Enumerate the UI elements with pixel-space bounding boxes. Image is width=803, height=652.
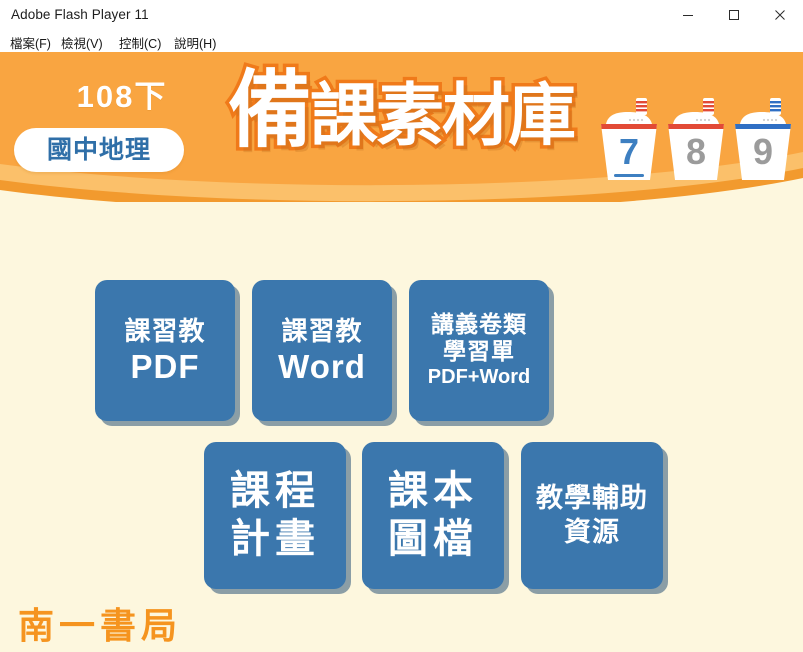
window-title: Adobe Flash Player 11 [11, 7, 149, 22]
menu-button-line3: PDF+Word [428, 367, 530, 389]
menu-button-textbook-images[interactable]: 課本 圖檔 [362, 442, 504, 589]
app-title-first: 備 [228, 63, 310, 157]
subject-badge: 國中地理 [14, 128, 184, 172]
grade-number-9: 9 [734, 134, 792, 170]
close-button[interactable] [757, 0, 803, 30]
maximize-icon [728, 9, 740, 21]
subject-label: 國中地理 [47, 138, 151, 163]
maximize-button[interactable] [711, 0, 757, 30]
menu-file[interactable]: 檔案(F) [10, 33, 51, 52]
app-title-rest: 課素材庫 [310, 78, 574, 154]
menu-button-line2: Word [278, 349, 366, 385]
minimize-button[interactable] [665, 0, 711, 30]
menu-button-lesson-pdf[interactable]: 課習教 PDF [95, 280, 235, 421]
menu-button-line1: 課程 [230, 470, 320, 513]
menu-help[interactable]: 說明(H) [174, 33, 216, 52]
menu-button-worksheets[interactable]: 講義卷類 學習單 PDF+Word [409, 280, 549, 421]
menu-button-line1: 課習教 [124, 317, 205, 345]
grade-number-7: 7 [600, 134, 658, 170]
minimize-icon [682, 9, 694, 21]
menu-button-line1: 課習教 [281, 317, 362, 345]
grade-boat-9[interactable]: 9 [734, 96, 792, 182]
grade-boat-8[interactable]: 8 [667, 96, 725, 182]
menu-button-line1: 教學輔助 [536, 484, 648, 513]
menu-button-line2: 計畫 [230, 518, 320, 561]
menu-button-line1: 講義卷類 [431, 312, 527, 337]
main-menu-grid: 課習教 PDF 課習教 Word 講義卷類 學習單 PDF+Word 課程 計畫… [0, 202, 803, 622]
menu-button-line2: 圖檔 [388, 518, 478, 561]
grade-number-8: 8 [667, 134, 725, 170]
grade-boat-7[interactable]: 7 [600, 96, 658, 182]
term-label: 108下 [42, 81, 202, 112]
close-icon [774, 9, 786, 21]
flash-stage: 108下 國中地理 備課素材庫 [0, 52, 803, 652]
menu-button-line1: 課本 [388, 470, 478, 513]
window-controls [665, 0, 803, 30]
app-title: 備課素材庫 [228, 68, 574, 152]
menu-button-line2: 學習單 [443, 339, 515, 364]
menu-button-line2: PDF [131, 349, 200, 385]
menu-bar: 檔案(F) 檢視(V) 控制(C) 說明(H) [0, 30, 803, 52]
menu-button-lesson-word[interactable]: 課習教 Word [252, 280, 392, 421]
publisher-logo: 南一書局 [18, 608, 182, 644]
menu-control[interactable]: 控制(C) [119, 33, 161, 52]
title-bar: Adobe Flash Player 11 [0, 0, 803, 30]
menu-button-teaching-support[interactable]: 教學輔助 資源 [521, 442, 663, 589]
header-banner: 108下 國中地理 備課素材庫 [0, 52, 803, 202]
menu-button-line2: 資源 [564, 518, 620, 547]
flash-player-window: Adobe Flash Player 11 檔案(F) 檢視(V) 控制(C) [0, 0, 803, 652]
grade-selector: 7 8 [596, 96, 796, 186]
grade-selected-underline [614, 174, 644, 177]
menu-button-course-plan[interactable]: 課程 計畫 [204, 442, 346, 589]
menu-view[interactable]: 檢視(V) [61, 33, 103, 52]
